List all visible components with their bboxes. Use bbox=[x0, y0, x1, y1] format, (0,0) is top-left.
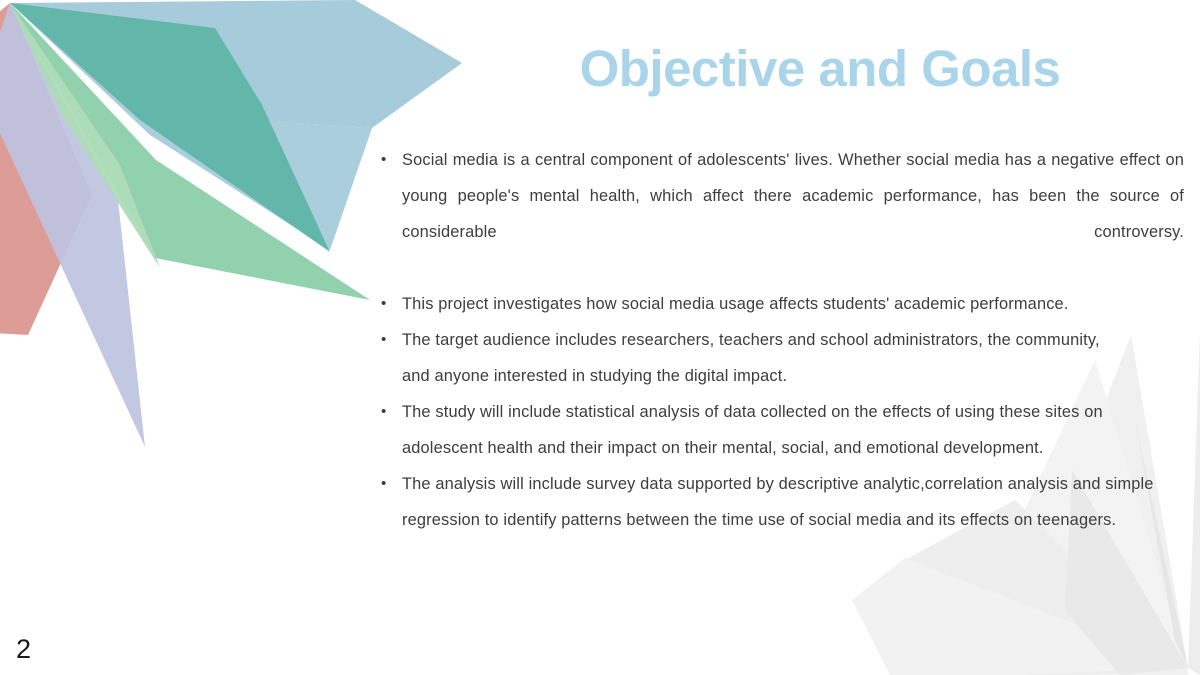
slide-number: 2 bbox=[16, 634, 31, 664]
blue-ribbon-lower bbox=[10, 3, 372, 250]
bullet-text-5: The analysis will include survey data su… bbox=[402, 466, 1154, 538]
blue-ribbon bbox=[10, 0, 462, 128]
gray-ribbon-2 bbox=[1188, 330, 1200, 675]
bullet-marker-icon: • bbox=[381, 466, 386, 502]
bullet-marker-icon: • bbox=[381, 322, 386, 358]
bullet-text-1: Social media is a central component of a… bbox=[402, 142, 1184, 286]
light-green-ribbon bbox=[10, 3, 160, 268]
bullet-item-3: • The target audience includes researche… bbox=[378, 322, 1178, 394]
slide-canvas: Objective and Goals • Social media is a … bbox=[0, 0, 1200, 675]
lavender-ribbon bbox=[0, 3, 145, 447]
bullet-marker-icon: • bbox=[381, 286, 386, 322]
gray-ribbon-5 bbox=[852, 558, 1188, 675]
mint-ribbon bbox=[10, 3, 370, 300]
bullet-text-3: The target audience includes researchers… bbox=[402, 322, 1132, 394]
teal-ribbon bbox=[10, 3, 330, 252]
bullet-item-1: • Social media is a central component of… bbox=[378, 142, 1178, 286]
slide-title: Objective and Goals bbox=[470, 38, 1170, 100]
salmon-ribbon bbox=[0, 3, 92, 335]
bullet-item-4: • The study will include statistical ana… bbox=[378, 394, 1178, 466]
bullet-text-4: The study will include statistical analy… bbox=[402, 394, 1144, 466]
bullet-list: • Social media is a central component of… bbox=[378, 142, 1178, 538]
bullet-marker-icon: • bbox=[381, 394, 386, 430]
bullet-text-2: This project investigates how social med… bbox=[402, 286, 1118, 322]
bullet-item-2: • This project investigates how social m… bbox=[378, 286, 1178, 322]
bullet-marker-icon: • bbox=[381, 142, 386, 178]
bullet-item-5: • The analysis will include survey data … bbox=[378, 466, 1178, 538]
